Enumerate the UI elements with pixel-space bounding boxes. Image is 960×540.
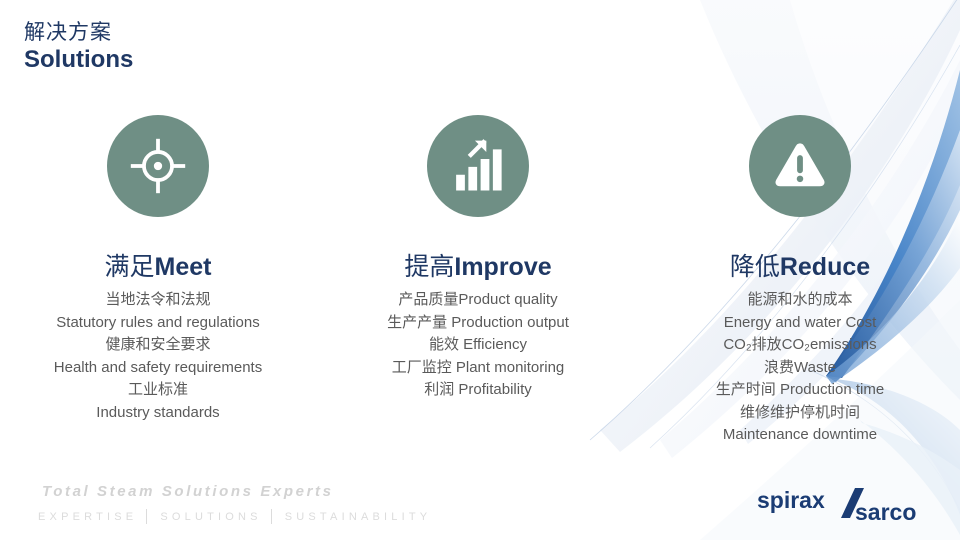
list-item: 生产产量 Production output — [387, 312, 569, 335]
list-item: Energy and water Cost — [724, 312, 877, 335]
footer-pillar-divider — [271, 509, 272, 524]
solution-column-improve: 提高Improve 产品质量Product quality 生产产量 Produ… — [318, 115, 638, 447]
page-title-english: Solutions — [24, 45, 133, 74]
column-heading-improve-en: Improve — [454, 253, 551, 281]
warning-triangle-icon — [771, 137, 829, 195]
footer-tagline: Total Steam Solutions Experts — [42, 483, 334, 500]
list-item: 健康和安全要求 — [105, 334, 210, 357]
footer-pillar-solutions: SOLUTIONS — [160, 511, 261, 523]
icon-badge-improve — [427, 115, 529, 217]
solution-columns: 满足Meet 当地法令和法规 Statutory rules and regul… — [0, 115, 960, 447]
column-heading-meet: 满足Meet — [105, 251, 212, 283]
list-item: 维修维护停机时间 — [740, 402, 860, 425]
page-title-chinese: 解决方案 — [24, 20, 133, 45]
logo-word-sarco: sarco — [855, 499, 916, 525]
column-heading-reduce-cn: 降低 — [730, 253, 780, 281]
column-heading-improve-cn: 提高 — [404, 253, 454, 281]
list-item: Health and safety requirements — [54, 357, 262, 380]
icon-badge-reduce — [749, 115, 851, 217]
column-heading-meet-cn: 满足 — [105, 253, 155, 281]
list-item: 利润 Profitability — [424, 379, 532, 402]
solution-column-meet: 满足Meet 当地法令和法规 Statutory rules and regul… — [0, 115, 318, 447]
column-lines-reduce: 能源和水的成本 Energy and water Cost CO₂排放CO₂em… — [716, 289, 884, 447]
icon-badge-meet — [107, 115, 209, 217]
list-item: Maintenance downtime — [723, 424, 877, 447]
footer-pillar-expertise: EXPERTISE — [38, 511, 137, 523]
footer-pillar-sustainability: SUSTAINABILITY — [285, 511, 432, 523]
logo-word-spirax: spirax — [757, 487, 825, 513]
list-item: 工厂监控 Plant monitoring — [392, 357, 565, 380]
column-heading-improve: 提高Improve — [404, 251, 551, 283]
column-heading-meet-en: Meet — [155, 253, 212, 281]
target-crosshair-icon — [129, 137, 187, 195]
list-item: 生产时间 Production time — [716, 379, 884, 402]
footer-pillar-divider — [146, 509, 147, 524]
solution-column-reduce: 降低Reduce 能源和水的成本 Energy and water Cost C… — [640, 115, 960, 447]
list-item: 能源和水的成本 — [747, 289, 852, 312]
list-item: 浪费Waste — [764, 357, 836, 380]
presentation-slide: 解决方案 Solutions 满足Meet — [0, 0, 960, 540]
spirax-sarco-logo: spirax sarco — [755, 484, 940, 530]
column-lines-meet: 当地法令和法规 Statutory rules and regulations … — [54, 289, 262, 424]
page-title: 解决方案 Solutions — [24, 20, 133, 74]
column-heading-reduce-en: Reduce — [780, 253, 870, 281]
list-item: Industry standards — [96, 402, 219, 425]
list-item: 产品质量Product quality — [398, 289, 557, 312]
list-item: Statutory rules and regulations — [56, 312, 259, 335]
column-heading-reduce: 降低Reduce — [730, 251, 870, 283]
list-item: 当地法令和法规 — [105, 289, 210, 312]
list-item: 工业标准 — [128, 379, 188, 402]
bar-chart-growth-icon — [450, 138, 506, 194]
column-lines-improve: 产品质量Product quality 生产产量 Production outp… — [387, 289, 569, 402]
list-item: 能效 Efficiency — [429, 334, 527, 357]
footer-pillars: EXPERTISE SOLUTIONS SUSTAINABILITY — [38, 509, 431, 524]
list-item: CO₂排放CO₂emissions — [723, 334, 876, 357]
